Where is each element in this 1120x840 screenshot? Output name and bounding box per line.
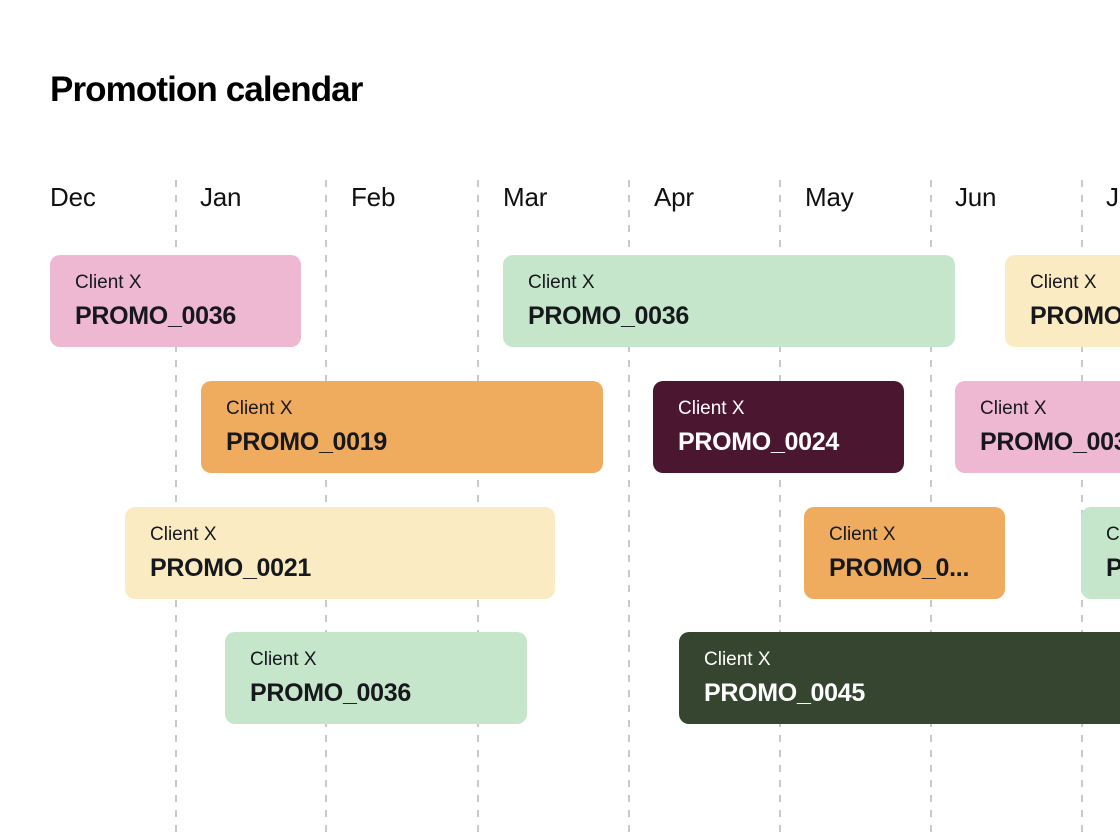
promo-code-label: PROMO_0036 [1106, 553, 1120, 583]
promo-code-label: PROMO_0... [829, 553, 1005, 583]
promo-client-label: Client X [678, 397, 904, 421]
promo-code-label: PROMO_0036 [980, 427, 1120, 457]
promo-code-label: PROMO_0024 [678, 427, 904, 457]
promo-client-label: Client X [980, 397, 1120, 421]
promo-bar[interactable]: Client XPROMO_0036 [1005, 255, 1120, 347]
promo-bar[interactable]: Client XPROMO_0036 [955, 381, 1120, 473]
promo-client-label: Client X [704, 648, 1120, 672]
promo-client-label: Client X [528, 271, 955, 295]
promo-bar[interactable]: Client XPROMO_0019 [201, 381, 603, 473]
promo-bar[interactable]: Client XPROMO_0... [804, 507, 1005, 599]
promo-bar[interactable]: Client XPROMO_0036 [225, 632, 527, 724]
promotion-calendar-card: Promotion calendar DecJanFebMarAprMayJun… [0, 0, 1120, 840]
promo-code-label: PROMO_0036 [75, 301, 301, 331]
promo-code-label: PROMO_0036 [1030, 301, 1120, 331]
promo-code-label: PROMO_0036 [250, 678, 527, 708]
promo-bar[interactable]: Client XPROMO_0024 [653, 381, 904, 473]
promo-bar[interactable]: Client XPROMO_0036 [1081, 507, 1120, 599]
promo-bar[interactable]: Client XPROMO_0021 [125, 507, 555, 599]
promo-code-label: PROMO_0021 [150, 553, 555, 583]
promotion-bars-layer: Client XPROMO_0036Client XPROMO_0036Clie… [0, 0, 1120, 840]
promo-client-label: Client X [150, 523, 555, 547]
promo-client-label: Client X [829, 523, 1005, 547]
promo-code-label: PROMO_0045 [704, 678, 1120, 708]
promo-client-label: Client X [1106, 523, 1120, 547]
promo-bar[interactable]: Client XPROMO_0036 [50, 255, 301, 347]
promo-code-label: PROMO_0036 [528, 301, 955, 331]
promo-bar[interactable]: Client XPROMO_0045 [679, 632, 1120, 724]
promo-bar[interactable]: Client XPROMO_0036 [503, 255, 955, 347]
promo-client-label: Client X [250, 648, 527, 672]
promo-code-label: PROMO_0019 [226, 427, 603, 457]
promo-client-label: Client X [1030, 271, 1120, 295]
promo-client-label: Client X [75, 271, 301, 295]
promo-client-label: Client X [226, 397, 603, 421]
